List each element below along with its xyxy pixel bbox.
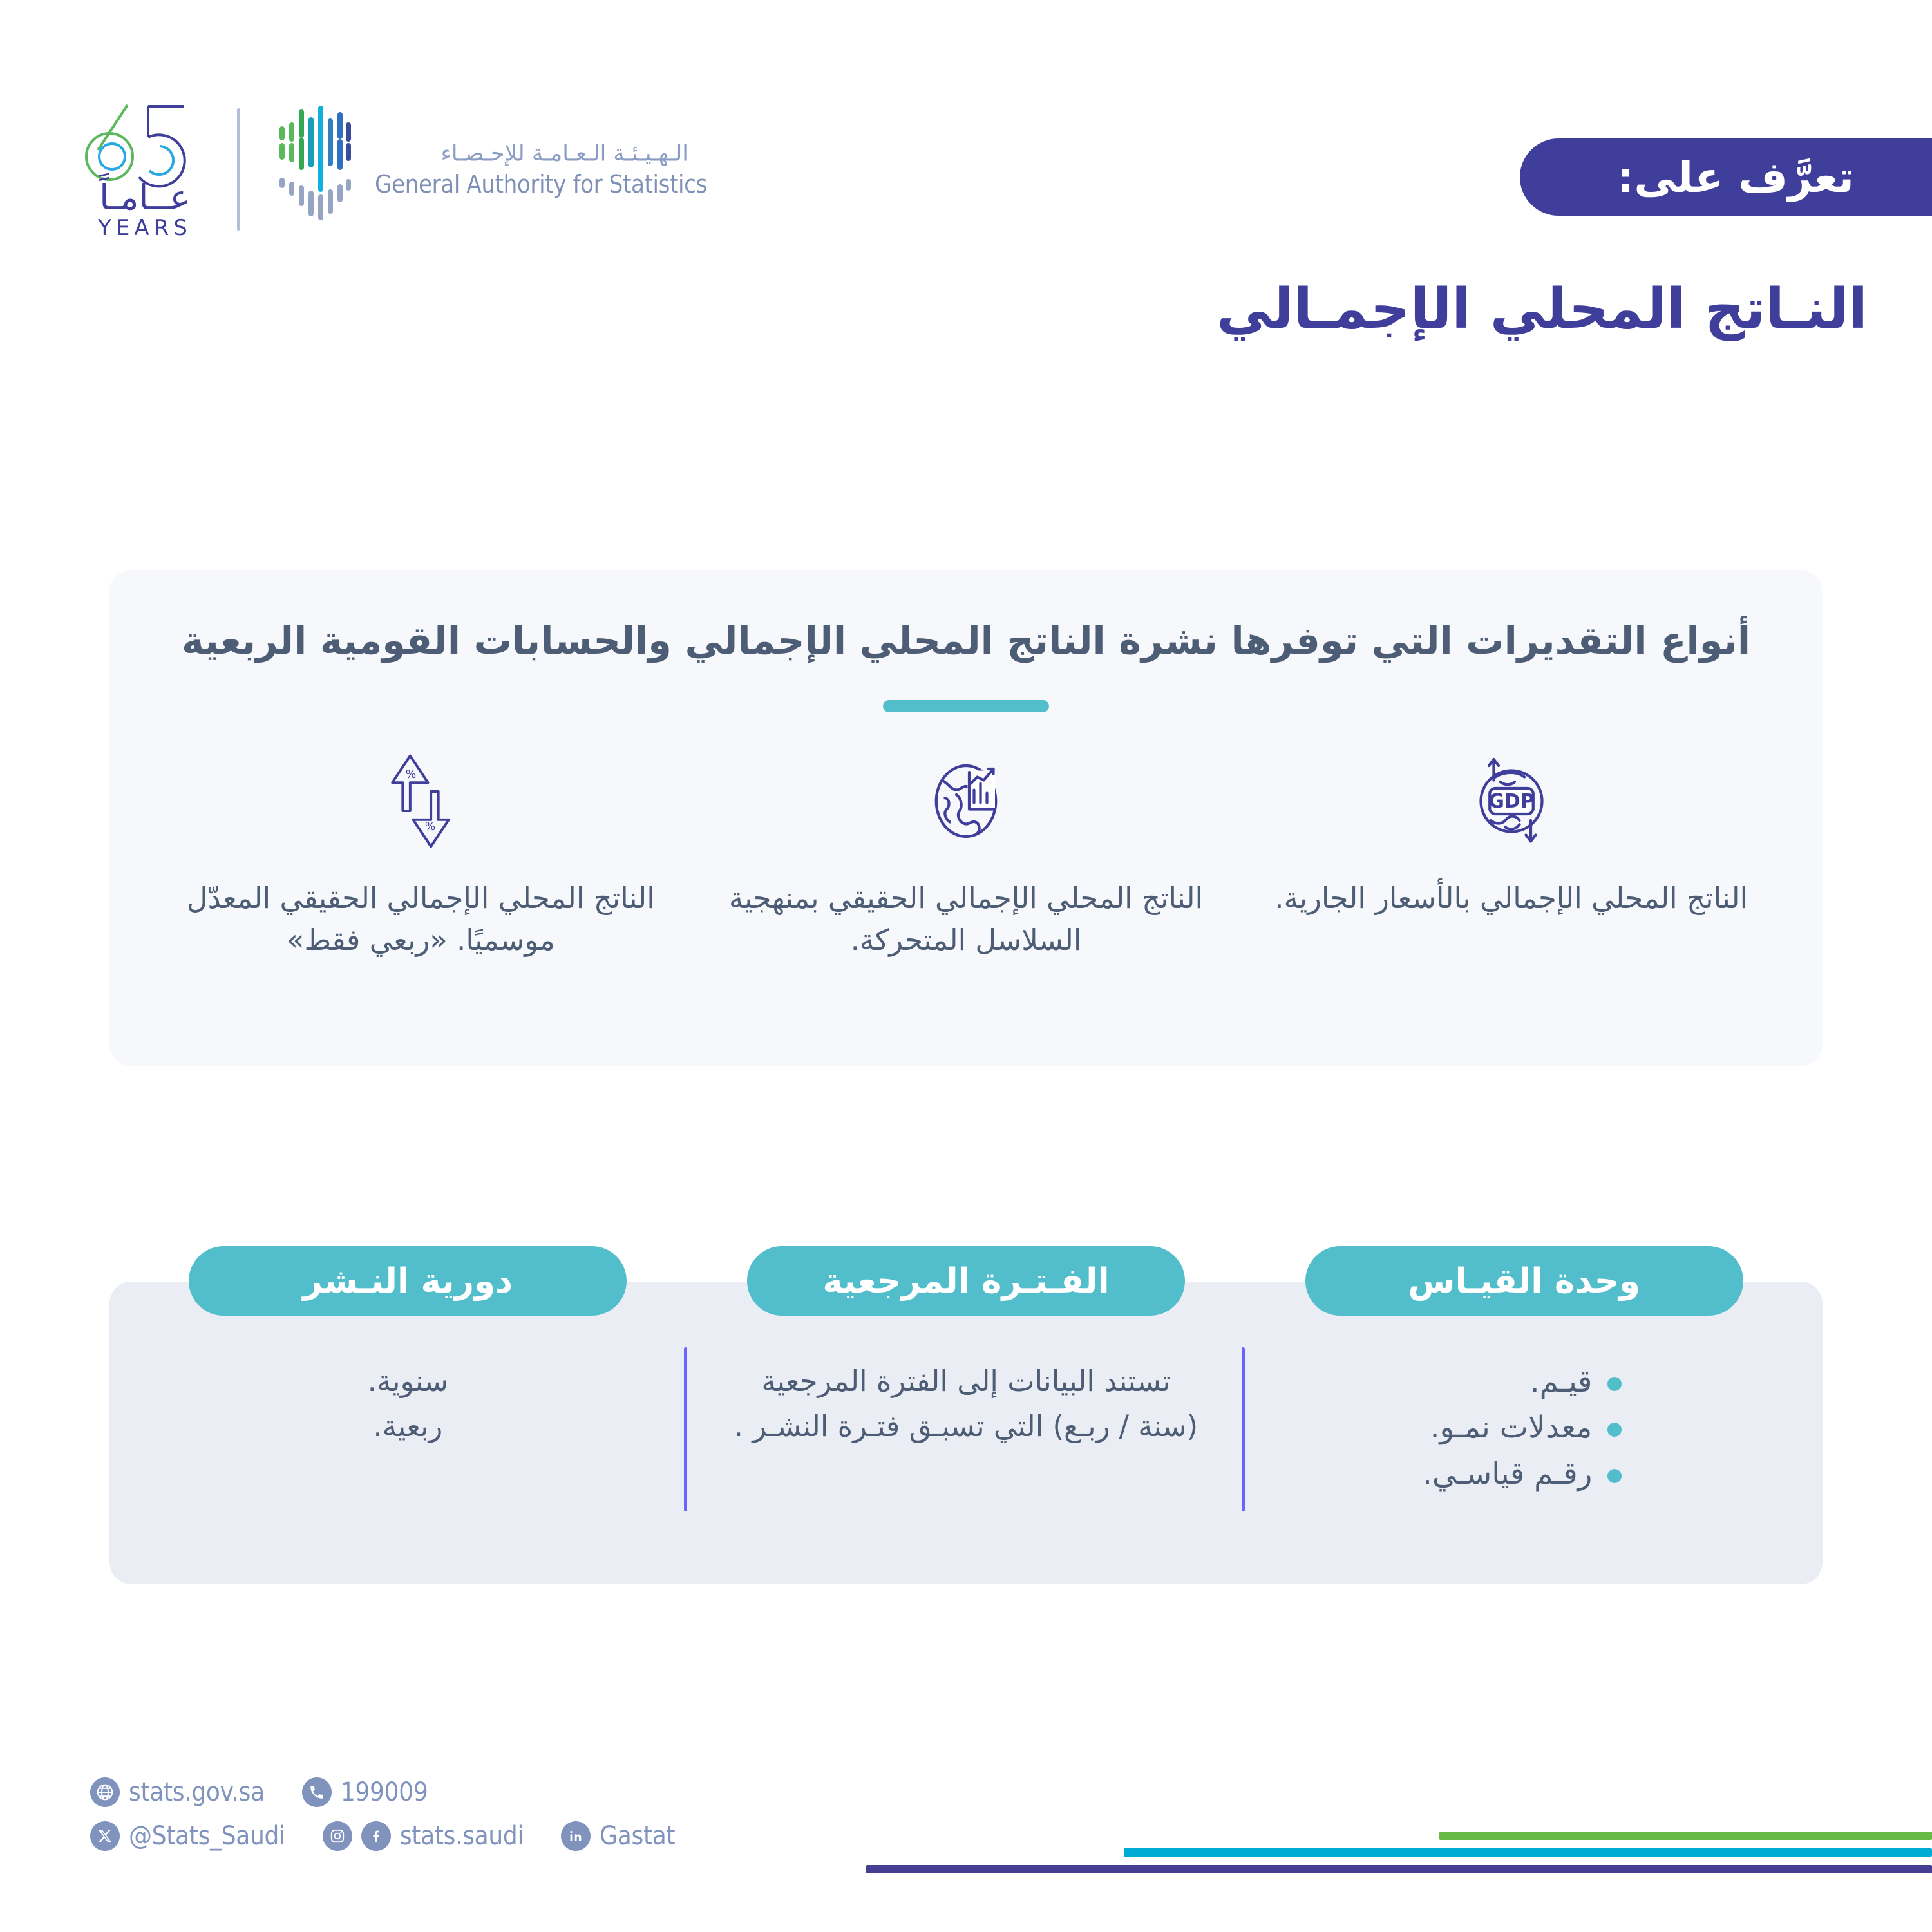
gastat-logo: الـهـيـئـة الـعـامـة للإحـصـاء General A… [271, 103, 707, 235]
meta-columns: قيـم. معدلات نمـو. رقـم قياسـي. تستند ال… [109, 1282, 1823, 1584]
contact-social-handle[interactable]: stats.saudi [323, 1821, 524, 1851]
decorative-bar-purple [866, 1865, 1932, 1873]
pill-slot: وحدة القيـاس [1245, 1246, 1803, 1316]
estimate-text: الناتج المحلي الإجمالي الحقيقي بمنهجية ا… [719, 877, 1213, 961]
unit-of-measure-list: قيـم. معدلات نمـو. رقـم قياسـي. [1423, 1359, 1625, 1497]
phone-label: 199009 [341, 1777, 428, 1807]
social-handle-label: stats.saudi [400, 1821, 524, 1851]
globe-chart-icon [719, 750, 1213, 853]
pill-slot: دورية النـشر [129, 1246, 687, 1316]
estimate-item: % % الناتج المحلي الإجمالي الحقيقي المعد… [148, 750, 694, 961]
decorative-bar-green [1439, 1832, 1932, 1840]
contact-website[interactable]: stats.gov.sa [90, 1777, 265, 1807]
frequency-line: سنوية. [368, 1359, 449, 1404]
gastat-arabic-name: الـهـيـئـة الـعـامـة للإحـصـاء [375, 140, 688, 166]
footer: stats.gov.sa 199009 [0, 1765, 1932, 1932]
estimate-item: الناتج المحلي الإجمالي الحقيقي بمنهجية ا… [694, 750, 1239, 961]
heading-underline [883, 700, 1049, 712]
logo-divider [237, 108, 240, 231]
reference-period-text: تستند البيانات إلى الفترة المرجعية (سنة … [732, 1359, 1200, 1449]
website-label: stats.gov.sa [129, 1777, 265, 1807]
publication-frequency-text: سنوية. ربعية. [368, 1359, 449, 1449]
pill-slot: الفـتـرة المرجعية [687, 1246, 1245, 1316]
header: عــامـاً YEARS [0, 0, 1932, 277]
estimates-heading: أنواع التقديرات التي توفرها نشرة الناتج … [109, 570, 1823, 663]
percent-arrows-icon: % % [174, 750, 668, 853]
infographic-page: عــامـاً YEARS [0, 0, 1932, 1932]
gdp-globe-icon: GDP [1264, 750, 1758, 853]
meta-column-unit-of-measure: قيـم. معدلات نمـو. رقـم قياسـي. [1245, 1359, 1803, 1558]
svg-text:عــامـاً: عــامـاً [99, 173, 191, 218]
svg-text:%: % [425, 820, 435, 833]
learn-about-badge: تعرَّف على: [1520, 138, 1932, 216]
contact-row: @Stats_Saudi st [90, 1821, 712, 1851]
meta-column-reference-period: تستند البيانات إلى الفترة المرجعية (سنة … [687, 1359, 1245, 1558]
pill-unit-of-measure: وحدة القيـاس [1305, 1246, 1743, 1316]
footer-contacts: stats.gov.sa 199009 [90, 1777, 712, 1865]
meta-card: وحدة القيـاس الفـتـرة المرجعية دورية الن… [109, 1282, 1823, 1584]
instagram-icon [323, 1821, 352, 1851]
svg-text:GDP: GDP [1488, 790, 1535, 813]
pill-reference-period: الفـتـرة المرجعية [747, 1246, 1185, 1316]
logo-block: عــامـاً YEARS [84, 100, 707, 238]
gastat-english-name: General Authority for Statistics [375, 170, 707, 198]
list-item: رقـم قياسـي. [1423, 1451, 1625, 1497]
pill-publication-frequency: دورية النـشر [189, 1246, 627, 1316]
contact-linkedin[interactable]: Gastat [561, 1821, 675, 1851]
list-item: قيـم. [1423, 1359, 1625, 1405]
meta-pills: وحدة القيـاس الفـتـرة المرجعية دورية الن… [109, 1246, 1823, 1316]
linkedin-label: Gastat [600, 1821, 675, 1851]
estimate-text: الناتج المحلي الإجمالي الحقيقي المعدّل م… [174, 877, 668, 961]
estimates-row: GDP الناتج المحلي الإجمالي بالأسعار الجا… [109, 750, 1823, 961]
contact-row: stats.gov.sa 199009 [90, 1777, 712, 1807]
list-item: معدلات نمـو. [1423, 1405, 1625, 1450]
gastat-mark-icon [271, 103, 358, 235]
estimate-text: الناتج المحلي الإجمالي بالأسعار الجارية. [1264, 877, 1758, 919]
estimate-item: GDP الناتج المحلي الإجمالي بالأسعار الجا… [1238, 750, 1784, 961]
footer-decorative-bars [708, 1832, 1932, 1877]
contact-phone[interactable]: 199009 [302, 1777, 428, 1807]
gastat-wordmark: الـهـيـئـة الـعـامـة للإحـصـاء General A… [375, 140, 707, 198]
globe-icon [90, 1777, 120, 1807]
facebook-icon [361, 1821, 391, 1851]
65-years-logo: عــامـاً YEARS [84, 100, 206, 238]
decorative-bar-cyan [1124, 1848, 1932, 1857]
x-twitter-icon [90, 1821, 120, 1851]
svg-text:%: % [406, 768, 416, 781]
x-twitter-label: @Stats_Saudi [129, 1821, 285, 1851]
phone-icon [302, 1777, 332, 1807]
page-title: النـاتج المحلي الإجمـالي [1217, 277, 1868, 341]
estimates-card: أنواع التقديرات التي توفرها نشرة الناتج … [109, 570, 1823, 1066]
svg-text:YEARS: YEARS [97, 215, 192, 238]
frequency-line: ربعية. [368, 1404, 449, 1449]
meta-column-publication-frequency: سنوية. ربعية. [129, 1359, 687, 1558]
svg-text:الـهـيـئـة الـعـامـة للإحـصـاء: الـهـيـئـة الـعـامـة للإحـصـاء [440, 140, 688, 166]
contact-x-twitter[interactable]: @Stats_Saudi [90, 1821, 285, 1851]
linkedin-icon [561, 1821, 591, 1851]
